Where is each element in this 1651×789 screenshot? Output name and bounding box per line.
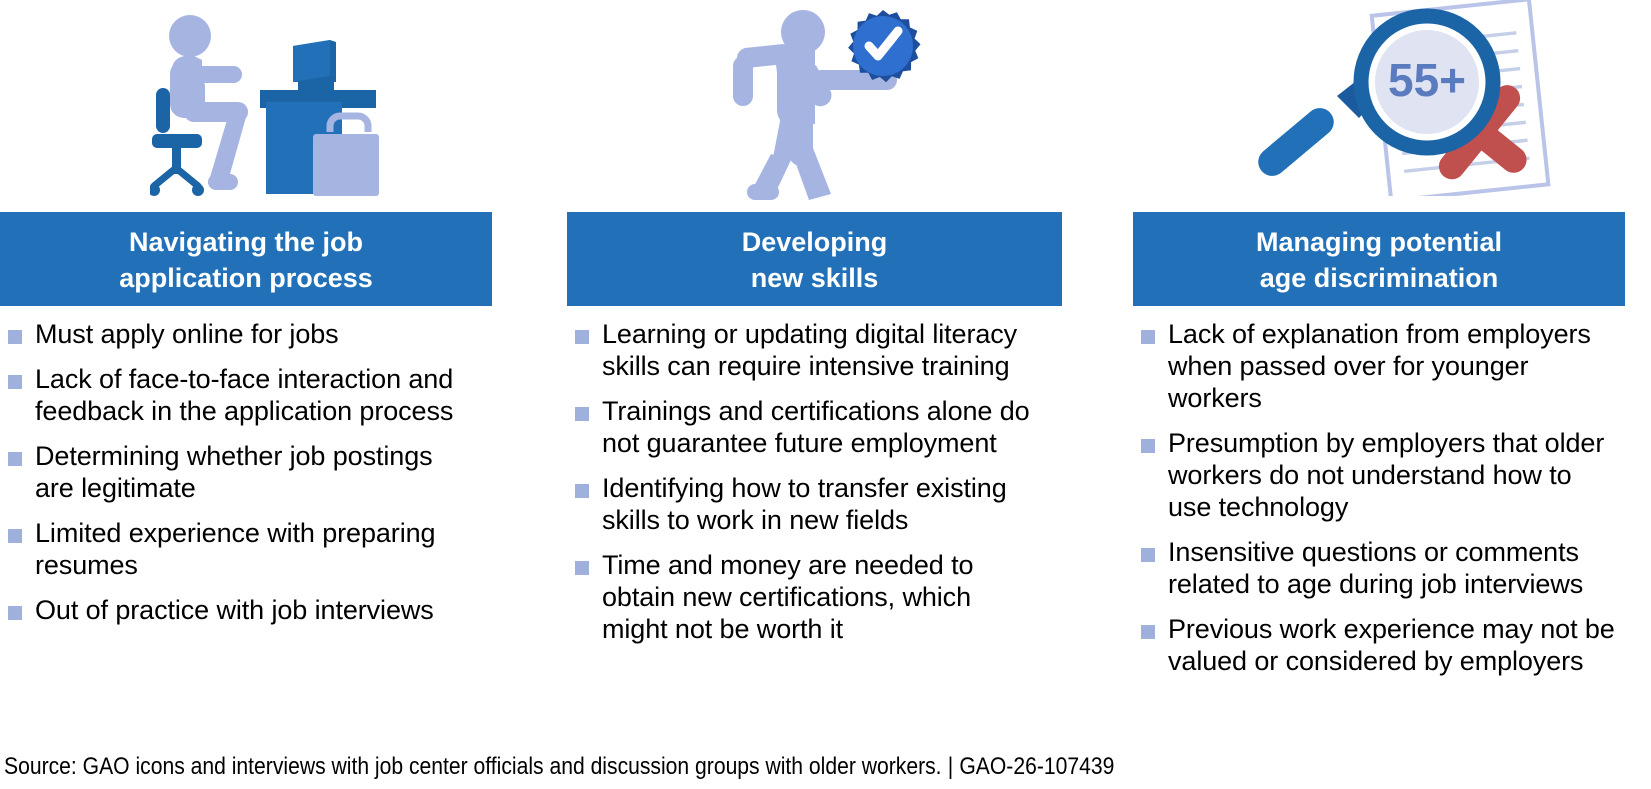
report-number: GAO-26-107439	[959, 753, 1114, 780]
column-2-header: Developing new skills	[567, 212, 1062, 306]
list-item: Insensitive questions or comments relate…	[1141, 536, 1649, 600]
icon-area-column-3: 55+	[1133, 0, 1651, 212]
bullet-square-icon	[1141, 439, 1155, 453]
column-2-bullet-list: Learning or updating digital literacy sk…	[575, 318, 1075, 658]
list-item: Lack of face-to-face interaction and fee…	[8, 363, 506, 427]
bullet-text: Time and money are needed to obtain new …	[602, 549, 973, 645]
bullet-square-icon	[1141, 330, 1155, 344]
footer-separator: |	[942, 753, 960, 780]
column-navigating-job-application: Navigating the job application process M…	[0, 0, 518, 740]
source-footer: Source: GAO icons and interviews with jo…	[4, 752, 1114, 782]
bullet-text: Trainings and certifications alone do no…	[602, 395, 1030, 459]
columns-container: Navigating the job application process M…	[0, 0, 1651, 740]
bullet-text: Identifying how to transfer existing ski…	[602, 472, 1007, 536]
bullet-square-icon	[1141, 625, 1155, 639]
infographic-root: Navigating the job application process M…	[0, 0, 1651, 789]
list-item: Out of practice with job interviews	[8, 594, 506, 626]
column-3-bullet-list: Lack of explanation from employers when …	[1141, 318, 1649, 690]
bullet-text: Limited experience with preparing resume…	[35, 517, 435, 581]
bullet-text: Insensitive questions or comments relate…	[1168, 536, 1583, 600]
list-item: Lack of explanation from employers when …	[1141, 318, 1649, 414]
bullet-text: Lack of face-to-face interaction and fee…	[35, 363, 453, 427]
list-item: Must apply online for jobs	[8, 318, 506, 350]
bullet-text: Out of practice with job interviews	[35, 594, 434, 626]
column-3-header-text: Managing potential age discrimination	[1256, 224, 1502, 296]
list-item: Presumption by employers that older work…	[1141, 427, 1649, 523]
bullet-text: Previous work experience may not be valu…	[1168, 613, 1615, 677]
column-1-header: Navigating the job application process	[0, 212, 492, 306]
bullet-square-icon	[575, 407, 589, 421]
bullet-text: Must apply online for jobs	[35, 318, 339, 350]
column-1-bullet-list: Must apply online for jobs Lack of face-…	[8, 318, 506, 639]
magnifier-age-label: 55+	[1388, 54, 1466, 106]
icon-area-column-2	[567, 0, 1083, 212]
bullet-text: Determining whether job postings are leg…	[35, 440, 433, 504]
bullet-square-icon	[8, 330, 22, 344]
list-item: Limited experience with preparing resume…	[8, 517, 506, 581]
bullet-text: Lack of explanation from employers when …	[1168, 318, 1591, 414]
bullet-square-icon	[8, 529, 22, 543]
bullet-text: Learning or updating digital literacy sk…	[602, 318, 1017, 382]
list-item: Time and money are needed to obtain new …	[575, 549, 1075, 645]
list-item: Determining whether job postings are leg…	[8, 440, 506, 504]
list-item: Learning or updating digital literacy sk…	[575, 318, 1075, 382]
bullet-square-icon	[8, 606, 22, 620]
icon-area-column-1	[0, 0, 518, 212]
bullet-square-icon	[8, 375, 22, 389]
column-developing-new-skills: Developing new skills Learning or updati…	[567, 0, 1083, 740]
person-at-desk-icon	[150, 10, 380, 200]
column-1-header-text: Navigating the job application process	[119, 224, 373, 296]
list-item: Identifying how to transfer existing ski…	[575, 472, 1075, 536]
walking-person-with-certification-badge-icon	[715, 8, 935, 200]
bullet-square-icon	[1141, 548, 1155, 562]
list-item: Trainings and certifications alone do no…	[575, 395, 1075, 459]
column-3-header: Managing potential age discrimination	[1133, 212, 1625, 306]
list-item: Previous work experience may not be valu…	[1141, 613, 1649, 677]
bullet-square-icon	[575, 330, 589, 344]
source-text: Source: GAO icons and interviews with jo…	[4, 753, 942, 780]
column-managing-age-discrimination: 55+ Managing potential age discriminatio…	[1133, 0, 1651, 740]
column-2-header-text: Developing new skills	[742, 224, 888, 296]
bullet-square-icon	[575, 561, 589, 575]
magnifier-over-document-icon: 55+	[1241, 0, 1561, 196]
bullet-square-icon	[575, 484, 589, 498]
bullet-square-icon	[8, 452, 22, 466]
bullet-text: Presumption by employers that older work…	[1168, 427, 1604, 523]
